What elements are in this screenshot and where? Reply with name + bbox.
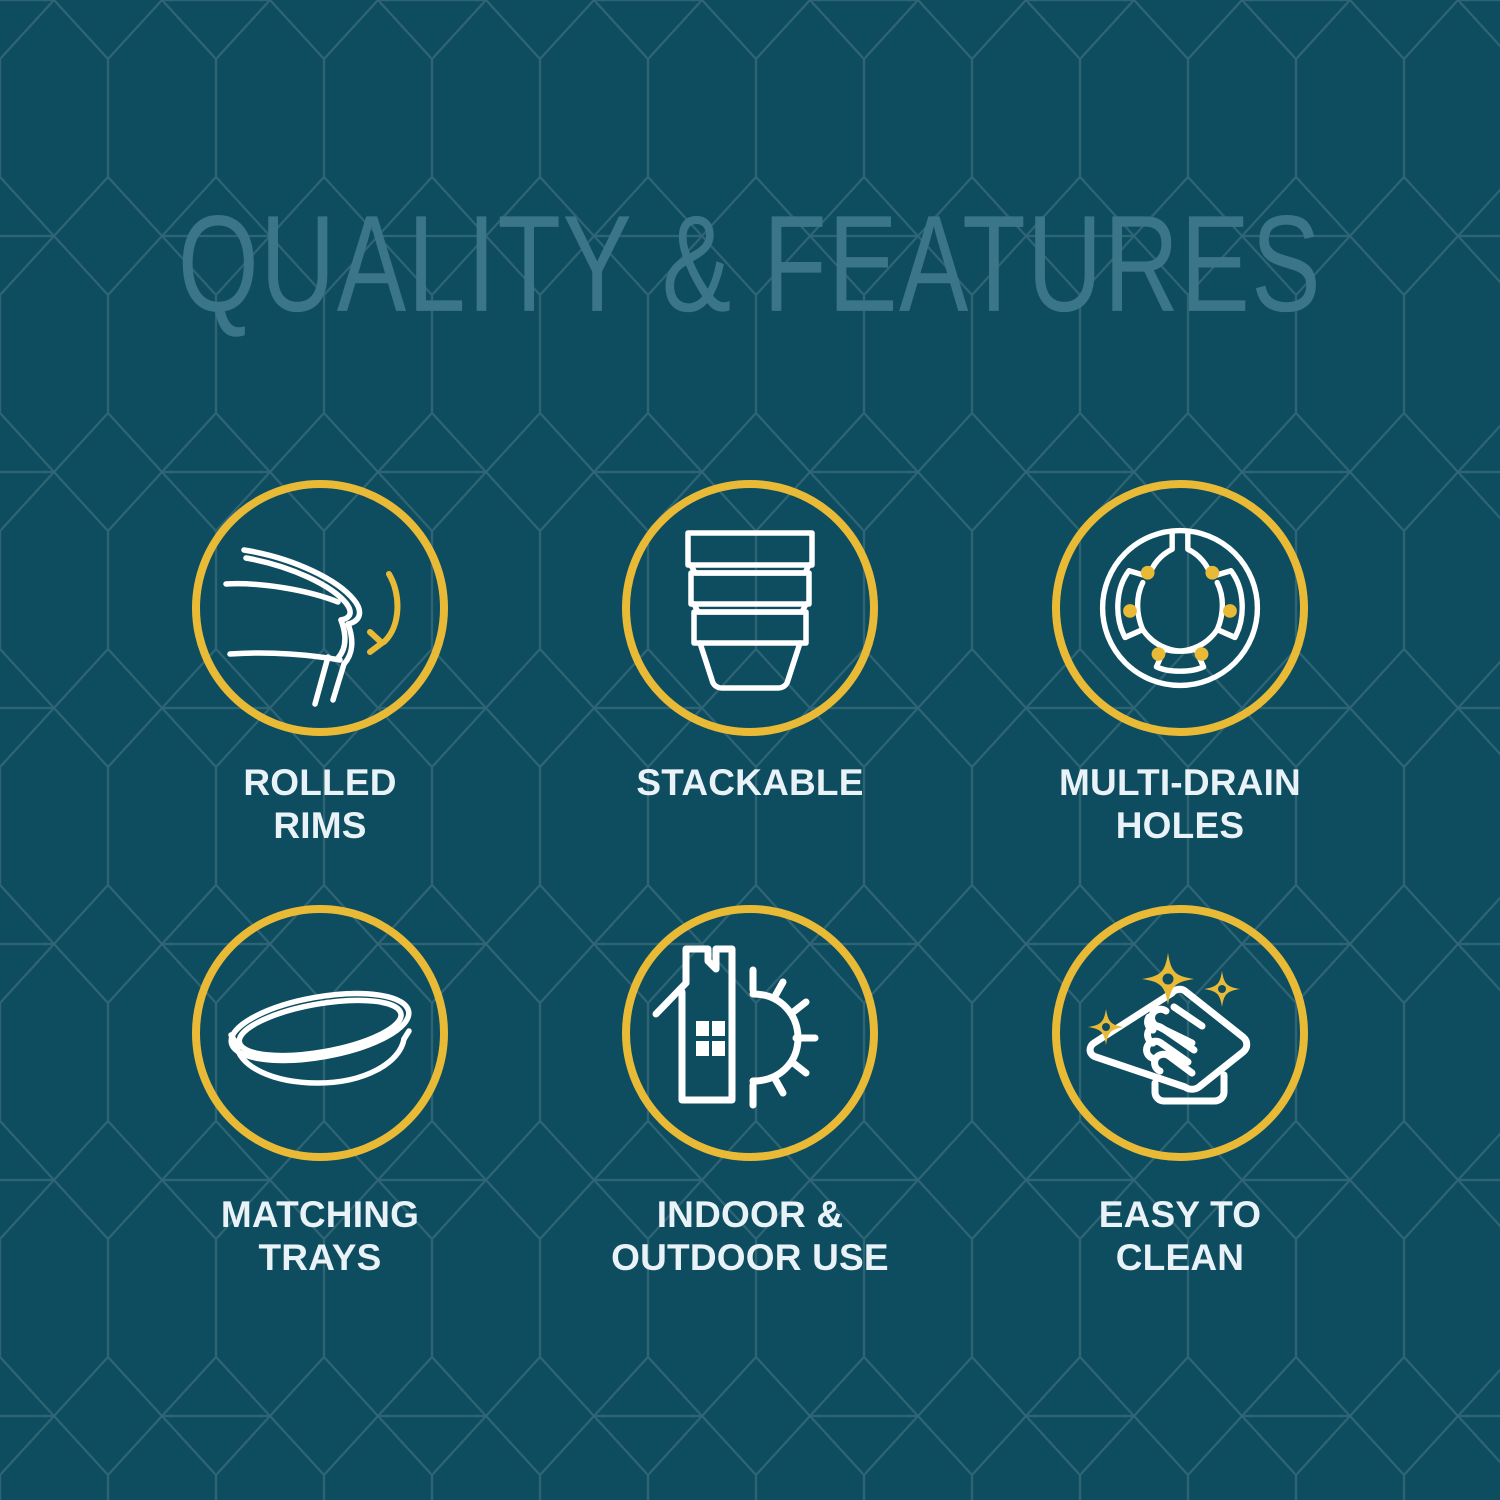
feature-badge-stackable: [622, 480, 878, 736]
feature-label: MATCHING TRAYS: [221, 1194, 419, 1280]
window-panes: [696, 1021, 725, 1056]
feature-label: ROLLED RIMS: [243, 762, 396, 848]
feature-label: STACKABLE: [636, 762, 863, 805]
feature-item: EASY TO CLEAN: [965, 905, 1395, 1330]
drain-holes-icon: [1082, 510, 1278, 706]
house-and-sun-icon: [650, 935, 850, 1131]
stacked-pots-icon: [655, 513, 845, 703]
feature-item: MULTI-DRAIN HOLES: [965, 480, 1395, 905]
feature-item: INDOOR & OUTDOOR USE: [535, 905, 965, 1330]
oval-tray-icon: [214, 927, 426, 1139]
feature-badge-indoor-outdoor: [622, 905, 878, 1161]
feature-label: MULTI-DRAIN HOLES: [1059, 762, 1301, 848]
feature-item: STACKABLE: [535, 480, 965, 905]
feature-label: INDOOR & OUTDOOR USE: [611, 1194, 889, 1280]
feature-item: ROLLED RIMS: [105, 480, 535, 905]
feature-item: MATCHING TRAYS: [105, 905, 535, 1330]
feature-badge-rolled-rims: [192, 480, 448, 736]
rolled-rim-profile-icon: [220, 508, 420, 708]
page-title: QUALITY & FEATURES: [178, 196, 1322, 333]
title-container: QUALITY & FEATURES: [0, 196, 1500, 300]
features-grid: ROLLED RIMS: [105, 480, 1395, 1330]
feature-badge-matching-trays: [192, 905, 448, 1161]
feature-badge-multi-drain-holes: [1052, 480, 1308, 736]
feature-label: EASY TO CLEAN: [1099, 1194, 1261, 1280]
feature-badge-easy-to-clean: [1052, 905, 1308, 1161]
wiping-hand-sparkle-icon: [1076, 931, 1284, 1135]
